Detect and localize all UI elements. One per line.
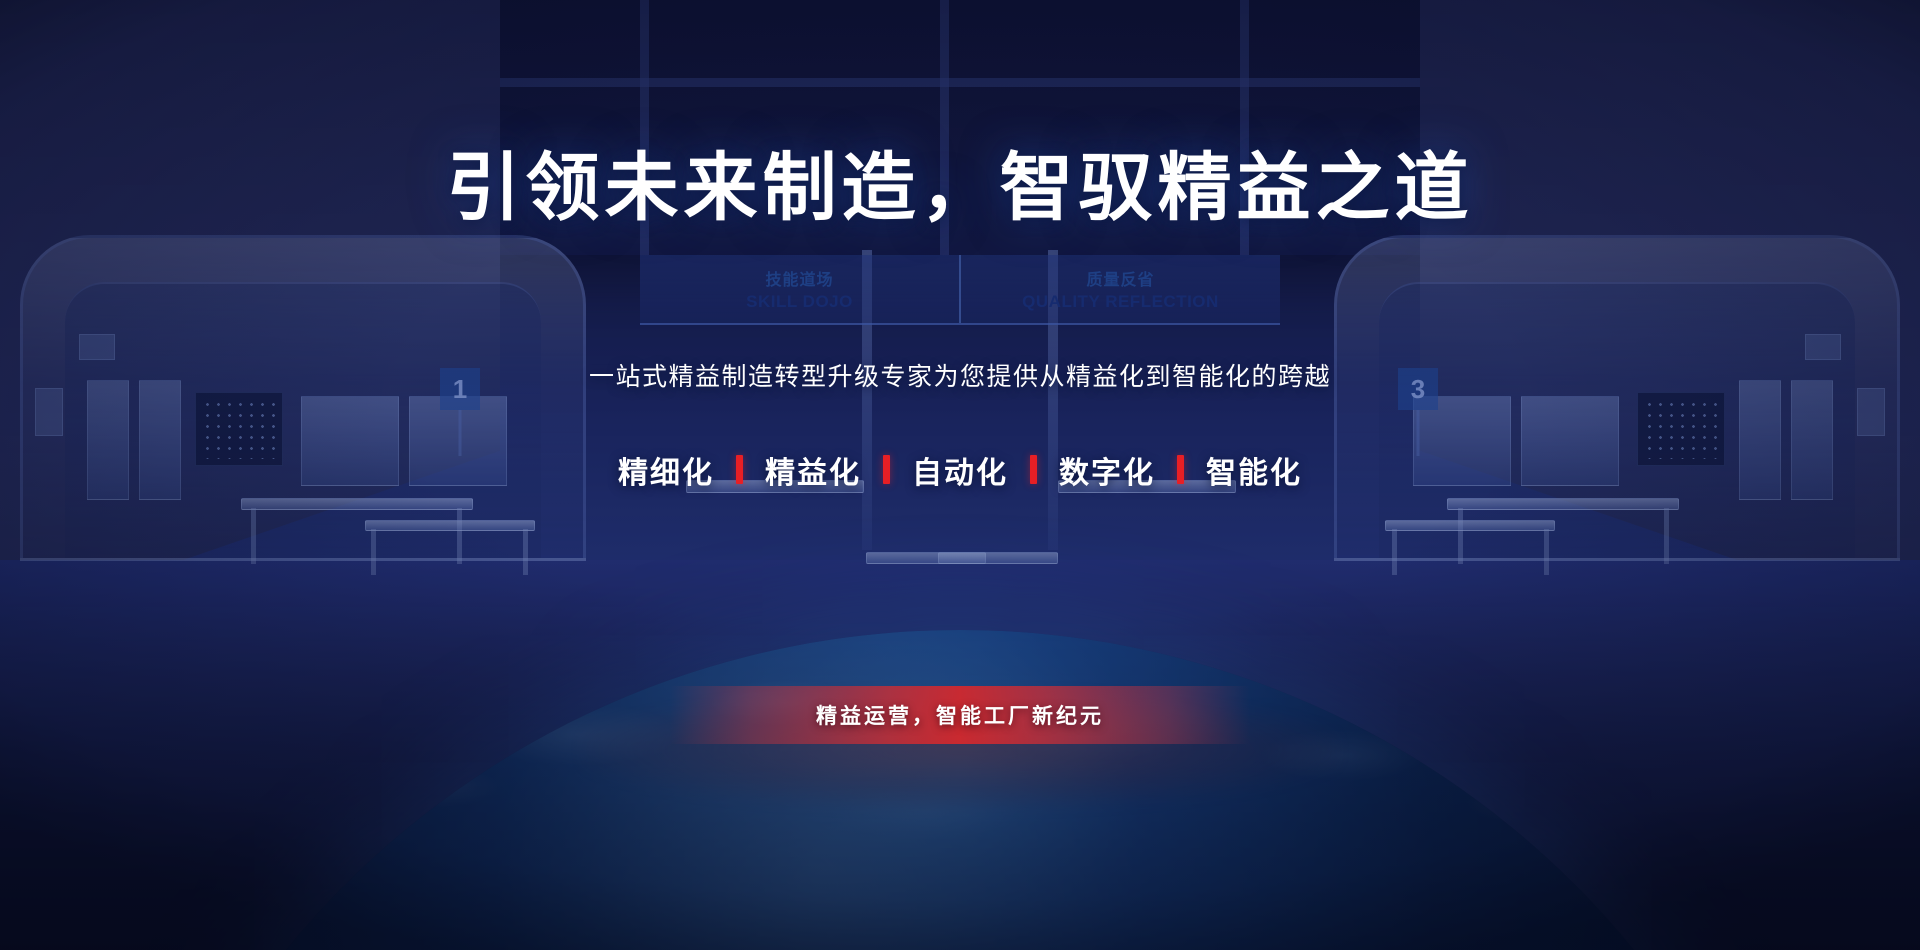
- capability-tag-row: 精细化 精益化 自动化 数字化 智能化: [618, 448, 1302, 492]
- hero-banner: 技能道场 SKILL DOJO 质量反省 QUALITY REFLECTION …: [0, 0, 1920, 950]
- tag-shuzihua: 数字化: [1059, 448, 1155, 492]
- tag-separator-icon: [736, 455, 743, 484]
- tag-zidonghua: 自动化: [912, 448, 1008, 492]
- tag-jingyihua: 精益化: [765, 448, 861, 492]
- hero-content: 引领未来制造，智驭精益之道 一站式精益制造转型升级专家为您提供从精益化到智能化的…: [0, 0, 1920, 950]
- hero-headline: 引领未来制造，智驭精益之道: [447, 128, 1474, 235]
- slogan-badge-bar: 精益运营，智能工厂新纪元: [670, 686, 1250, 744]
- tag-separator-icon: [883, 455, 890, 484]
- tag-zhinenghua: 智能化: [1206, 448, 1302, 492]
- hero-subtitle: 一站式精益制造转型升级专家为您提供从精益化到智能化的跨越: [589, 357, 1331, 393]
- tag-separator-icon: [1030, 455, 1037, 484]
- slogan-badge-text: 精益运营，智能工厂新纪元: [816, 700, 1104, 730]
- tag-separator-icon: [1177, 455, 1184, 484]
- tag-jingxihua: 精细化: [618, 448, 714, 492]
